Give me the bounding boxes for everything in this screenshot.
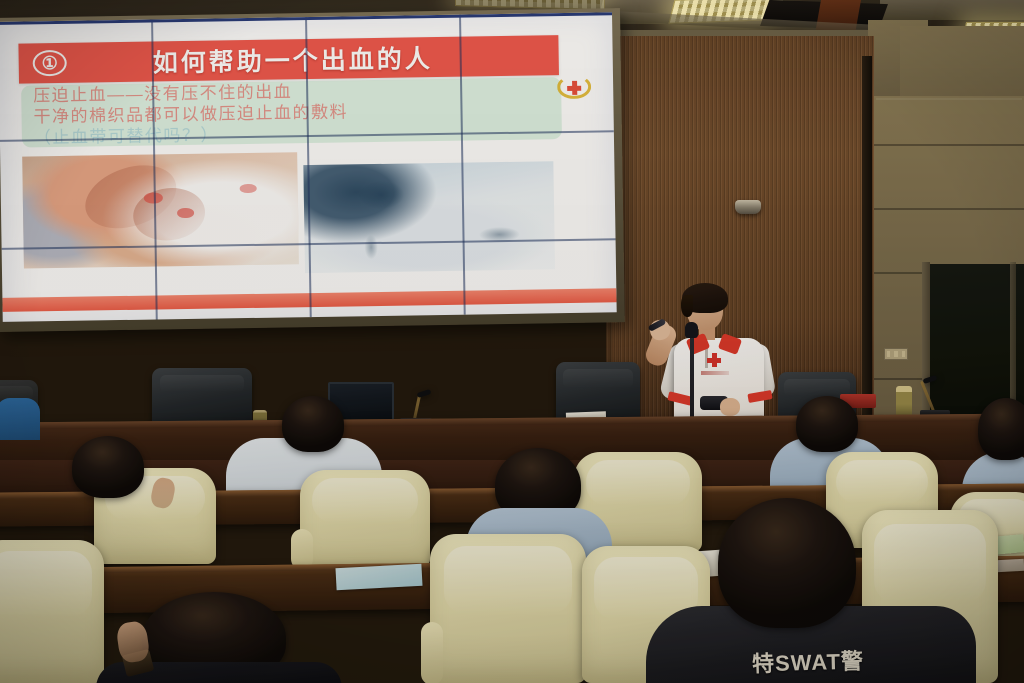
red-cross-chest-icon [704, 350, 724, 370]
slide-number-badge: ① [33, 50, 67, 77]
teal-booklet[interactable] [335, 564, 422, 590]
presenter-hair-side [681, 295, 693, 317]
photo-detail [364, 235, 377, 259]
swat-jacket-text: 特SWAT警 [752, 644, 865, 679]
presenter-shirt-text [701, 371, 729, 375]
video-wall-frame: ① 如何帮助一个出血的人 压迫止血——没有压不住的出血 干净的棉织品都可以做压迫… [0, 8, 625, 332]
microphone-head [416, 389, 431, 398]
presenter-lower-hand [720, 398, 740, 416]
conference-room-scene: ① 如何帮助一个出血的人 压迫止血——没有压不住的出血 干净的棉织品都可以做压迫… [0, 0, 1024, 683]
wall-seam-1 [874, 144, 1024, 146]
tumbler-cup[interactable] [896, 386, 912, 418]
attendee-far-left-shoulder [0, 398, 40, 440]
ceiling-slab-right [880, 0, 1024, 20]
slide-title: 如何帮助一个出血的人 [66, 37, 559, 81]
chair-mid-2[interactable] [300, 470, 430, 568]
chair-front-2[interactable] [430, 534, 586, 683]
attendee-swat-head [718, 498, 856, 628]
red-cross-icon [557, 75, 591, 100]
attendee-officer-head [978, 398, 1024, 460]
light-switch-plate[interactable] [884, 348, 908, 360]
slide-title-bar: ① 如何帮助一个出血的人 [18, 35, 559, 83]
photo-detail [359, 181, 404, 210]
attendee-center-head [282, 396, 344, 452]
cross-bar-vertical [712, 353, 717, 367]
presentation-screen[interactable]: ① 如何帮助一个出血的人 压迫止血——没有压不住的出血 干净的棉织品都可以做压迫… [0, 12, 617, 322]
microphone-stem [920, 381, 935, 412]
ceiling-speaker-icon [735, 200, 761, 214]
slide-photo-bandage [303, 161, 555, 273]
microphone-head [923, 375, 938, 384]
wall-highlight [876, 98, 1022, 100]
head-table-chair-1[interactable] [152, 368, 252, 426]
attendee-mid-left-head [72, 436, 144, 498]
photo-detail [240, 184, 257, 193]
chair-front-1[interactable] [0, 540, 104, 683]
attendee-center-right-head [796, 396, 858, 452]
wall-pillar [862, 56, 872, 428]
cross-bar-vertical [572, 81, 577, 95]
table-microphone-right[interactable] [920, 372, 950, 418]
microphone-icon[interactable] [685, 322, 698, 338]
photo-detail [177, 208, 194, 218]
slide-photo-hands [22, 152, 299, 268]
wall-seam-2 [874, 208, 1024, 210]
